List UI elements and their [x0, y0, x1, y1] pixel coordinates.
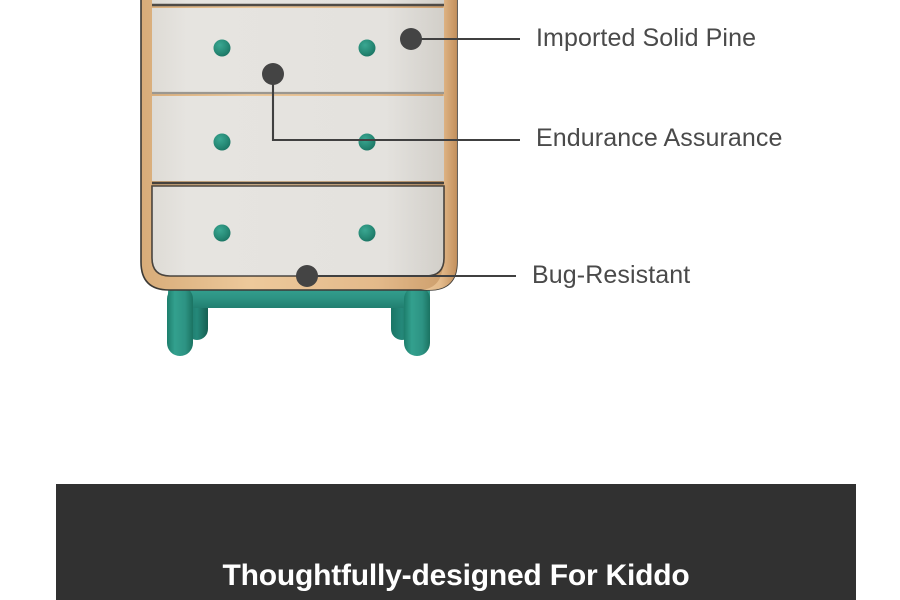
knob: [359, 134, 376, 151]
callout-label-bug-resistant: Bug-Resistant: [532, 263, 690, 288]
banner-headline: Thoughtfully-designed For Kiddo: [222, 559, 689, 600]
callout-dot-endurance-assurance[interactable]: [262, 63, 284, 85]
leg-front-right: [404, 286, 430, 356]
callout-label-endurance-assurance: Endurance Assurance: [536, 126, 783, 151]
knob: [214, 225, 231, 242]
dresser-base: [167, 286, 430, 356]
callout-label-imported-solid-pine: Imported Solid Pine: [536, 26, 756, 51]
drawer-face-1: [152, 8, 444, 92]
knob: [214, 134, 231, 151]
callout-dot-imported-solid-pine[interactable]: [400, 28, 422, 50]
drawer-face-2: [152, 96, 444, 181]
knob: [359, 40, 376, 57]
drawer-face-3: [152, 186, 444, 276]
infographic-canvas: Imported Solid Pine Endurance Assurance …: [0, 0, 900, 600]
bottom-banner: Thoughtfully-designed For Kiddo: [56, 484, 856, 600]
leg-front-left: [167, 286, 193, 356]
knob: [359, 225, 376, 242]
knob: [214, 40, 231, 57]
callout-dot-bug-resistant[interactable]: [296, 265, 318, 287]
drawer-face-0: [152, 0, 444, 4]
drawer-stack: [152, 0, 444, 276]
